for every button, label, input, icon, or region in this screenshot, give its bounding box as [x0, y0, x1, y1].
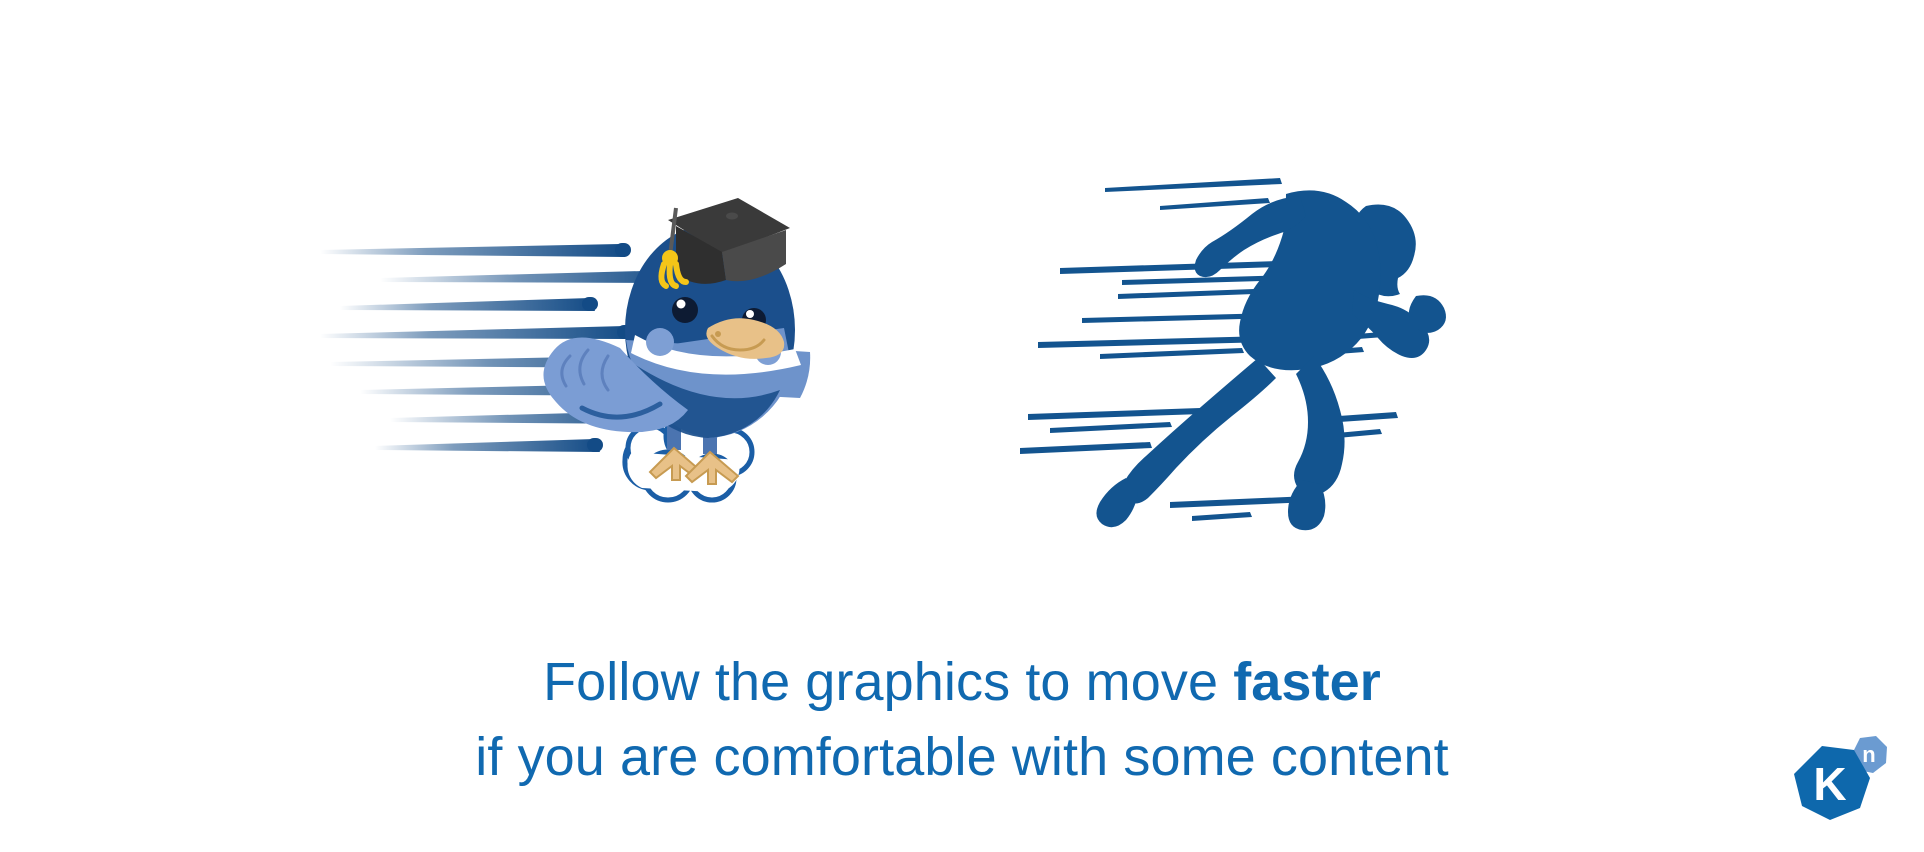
runner-svg: [1010, 170, 1450, 550]
slide-canvas: Follow the graphics to move faster if yo…: [0, 0, 1924, 852]
logo-primary-letter: K: [1813, 758, 1846, 810]
caption-emphasis-faster: faster: [1233, 652, 1381, 712]
caption-block: Follow the graphics to move faster if yo…: [0, 645, 1924, 795]
logo-svg: n K: [1786, 730, 1896, 830]
runner-silhouette: [1096, 190, 1446, 530]
graphics-band: [0, 0, 1924, 560]
graduate-bird-graphic: [320, 160, 1000, 560]
caption-line-1: Follow the graphics to move faster: [0, 645, 1924, 720]
caption-line-1-prefix: Follow the graphics to move: [543, 652, 1233, 712]
caption-line-2: if you are comfortable with some content: [0, 720, 1924, 795]
sprinting-runner-graphic: [1010, 170, 1450, 550]
logo-secondary-letter: n: [1862, 742, 1875, 767]
bird-svg: [320, 160, 1000, 560]
brand-logo[interactable]: n K: [1786, 730, 1896, 830]
